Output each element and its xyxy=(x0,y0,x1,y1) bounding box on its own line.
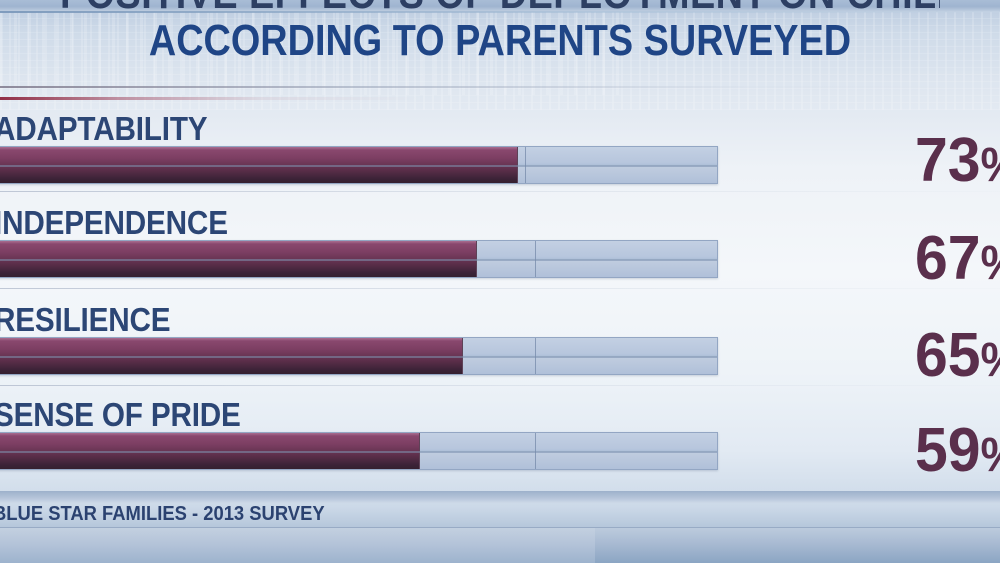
header-separator-maroon xyxy=(0,97,420,100)
bar-track-midline xyxy=(0,259,717,261)
infographic-screen: POSITIVE EFFECTS OF DEPLOYMENT ON CHILDR… xyxy=(0,0,1000,563)
source-attribution: BLUE STAR FAMILIES - 2013 SURVEY xyxy=(0,503,325,526)
bar-row-label: ADAPTABILITY xyxy=(0,112,207,146)
bar-row-label: RESILIENCE xyxy=(0,303,170,337)
bar-track-divider xyxy=(535,241,536,277)
bar-fill-gloss xyxy=(0,147,517,150)
bar-track xyxy=(0,240,718,278)
bar-value-number: 65 xyxy=(915,321,981,390)
source-band xyxy=(0,491,1000,503)
bar-value-number: 59 xyxy=(915,416,981,485)
row-separator xyxy=(0,288,1000,289)
bar-fill-gloss xyxy=(0,241,476,244)
row-separator xyxy=(0,191,1000,192)
bar-track-midline xyxy=(0,165,717,167)
bar-track xyxy=(0,432,718,470)
bar-track xyxy=(0,146,718,184)
bar-row-label: SENSE OF PRIDE xyxy=(0,398,241,432)
bar-track xyxy=(0,337,718,375)
bar-value-number: 67 xyxy=(915,224,981,293)
bar-track-divider xyxy=(535,338,536,374)
percent-symbol: % xyxy=(981,429,1000,482)
headline-line-2: ACCORDING TO PARENTS SURVEYED xyxy=(70,18,930,64)
header-separator-gray xyxy=(0,86,1000,88)
bar-row-label: INDEPENDENCE xyxy=(0,206,228,240)
bar-value: 65% xyxy=(915,325,1000,392)
bar-value: 67% xyxy=(915,228,1000,295)
percent-symbol: % xyxy=(981,139,1000,192)
bar-track-midline xyxy=(0,356,717,358)
bar-track-midline xyxy=(0,451,717,453)
percent-symbol: % xyxy=(981,237,1000,290)
bar-fill-gloss xyxy=(0,433,419,436)
bar-value: 59% xyxy=(915,420,1000,487)
row-separator xyxy=(0,385,1000,386)
bar-fill-gloss xyxy=(0,338,462,341)
percent-symbol: % xyxy=(981,334,1000,387)
footer-band-left xyxy=(0,528,595,563)
bar-track-divider xyxy=(525,147,526,183)
bar-value-number: 73 xyxy=(915,126,981,195)
bar-track-divider xyxy=(535,433,536,469)
bar-value: 73% xyxy=(915,130,1000,197)
